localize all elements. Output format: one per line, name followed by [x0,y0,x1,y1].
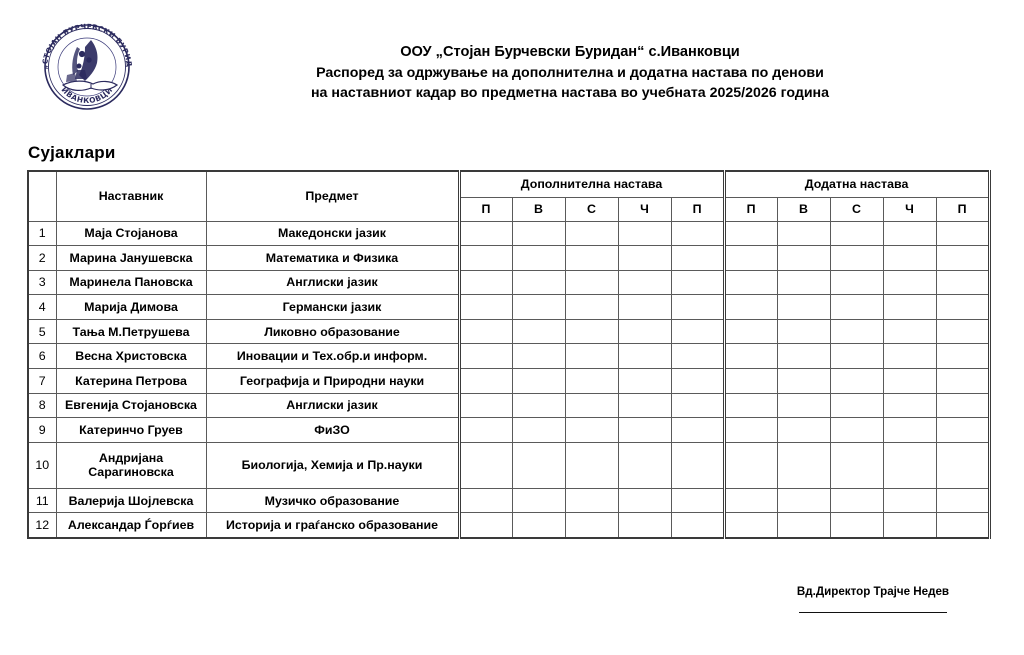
teacher-name: Валерија Шојлевска [56,488,206,513]
table-row: 10Андријана СарагиновскаБиологија, Хемиј… [28,442,989,488]
teacher-name: Катерина Петрова [56,369,206,394]
additional-empty-cell[interactable] [936,393,989,418]
row-number: 3 [28,270,56,295]
additional-mark-cell[interactable] [883,270,936,295]
title-line-subject: Распоред за одржување на дополнителна и … [250,63,890,84]
row-number: 9 [28,418,56,443]
supplementary-empty-cell[interactable] [565,221,618,246]
additional-empty-cell[interactable] [724,221,777,246]
supplementary-mark-cell[interactable] [671,442,724,488]
supplementary-empty-cell[interactable] [671,319,724,344]
supplementary-mark-cell[interactable] [565,246,618,271]
col-header-teacher: Наставник [56,171,206,221]
supplementary-empty-cell[interactable] [618,513,671,538]
col-header-number [28,171,56,221]
section-heading: Сујаклари [28,143,116,163]
teacher-name: Весна Христовска [56,344,206,369]
additional-empty-cell[interactable] [724,393,777,418]
supplementary-mark-cell[interactable] [512,270,565,295]
additional-empty-cell[interactable] [830,221,883,246]
table-header-row-groups: Наставник Предмет Дополнителна настава Д… [28,171,989,197]
additional-empty-cell[interactable] [936,270,989,295]
additional-empty-cell[interactable] [883,246,936,271]
supplementary-empty-cell[interactable] [459,221,512,246]
supplementary-empty-cell[interactable] [459,393,512,418]
signature-line [799,612,947,613]
additional-empty-cell[interactable] [777,270,830,295]
row-number: 2 [28,246,56,271]
supplementary-empty-cell[interactable] [459,246,512,271]
supplementary-empty-cell[interactable] [618,488,671,513]
additional-empty-cell[interactable] [830,295,883,320]
teacher-name: Марина Јанушевска [56,246,206,271]
supplementary-empty-cell[interactable] [618,393,671,418]
supplementary-empty-cell[interactable] [671,246,724,271]
supplementary-empty-cell[interactable] [671,393,724,418]
supplementary-empty-cell[interactable] [565,513,618,538]
additional-empty-cell[interactable] [830,393,883,418]
supplementary-empty-cell[interactable] [671,270,724,295]
additional-empty-cell[interactable] [777,442,830,488]
supplementary-mark-cell[interactable] [671,295,724,320]
additional-empty-cell[interactable] [724,369,777,394]
supplementary-empty-cell[interactable] [459,319,512,344]
supplementary-mark-cell[interactable] [618,369,671,394]
row-number: 11 [28,488,56,513]
table-row: 9Катеринчо ГруевФиЗО [28,418,989,443]
supplementary-mark-cell[interactable] [512,344,565,369]
additional-empty-cell[interactable] [936,319,989,344]
group-header-supplementary: Дополнителна настава [459,171,724,197]
additional-empty-cell[interactable] [936,246,989,271]
teacher-name: Евгенија Стојановска [56,393,206,418]
row-number: 12 [28,513,56,538]
supplementary-empty-cell[interactable] [565,369,618,394]
additional-empty-cell[interactable] [724,513,777,538]
supplementary-mark-cell[interactable] [459,513,512,538]
additional-empty-cell[interactable] [830,270,883,295]
subject-name: Музичко образование [206,488,459,513]
supplementary-empty-cell[interactable] [618,418,671,443]
supplementary-mark-cell[interactable] [671,488,724,513]
supplementary-empty-cell[interactable] [618,295,671,320]
day-header-supp-3: Ч [618,197,671,221]
supplementary-empty-cell[interactable] [671,344,724,369]
supplementary-empty-cell[interactable] [512,369,565,394]
additional-mark-cell[interactable] [777,246,830,271]
teacher-name: Марија Димова [56,295,206,320]
table-row: 5Тања М.ПетрушеваЛиковно образование [28,319,989,344]
supplementary-empty-cell[interactable] [671,513,724,538]
additional-empty-cell[interactable] [936,369,989,394]
supplementary-mark-cell[interactable] [459,418,512,443]
additional-mark-cell[interactable] [936,221,989,246]
additional-mark-cell[interactable] [883,344,936,369]
supplementary-empty-cell[interactable] [512,319,565,344]
document-page: ОУ „СТОЈАН БУРЧЕВСКИ БУРИДАН“ ИВАНКОВЦИ … [0,0,1024,655]
signature-block: Вд.Директор Трајче Недев [758,585,988,613]
group-header-additional: Додатна настава [724,171,989,197]
supplementary-empty-cell[interactable] [512,246,565,271]
additional-empty-cell[interactable] [830,246,883,271]
supplementary-empty-cell[interactable] [565,418,618,443]
table-row: 3Маринела ПановскаАнглиски јазик [28,270,989,295]
additional-mark-cell[interactable] [830,513,883,538]
additional-empty-cell[interactable] [777,295,830,320]
additional-empty-cell[interactable] [883,221,936,246]
table-body: 1Маја СтојановаМакедонски јазик2Марина Ј… [28,221,989,538]
supplementary-empty-cell[interactable] [565,295,618,320]
subject-name: Биологија, Хемија и Пр.науки [206,442,459,488]
table-row: 7Катерина ПетроваГеографија и Природни н… [28,369,989,394]
additional-empty-cell[interactable] [724,488,777,513]
additional-empty-cell[interactable] [883,513,936,538]
additional-empty-cell[interactable] [830,488,883,513]
supplementary-empty-cell[interactable] [459,270,512,295]
additional-empty-cell[interactable] [724,246,777,271]
table-row: 4Марија ДимоваГермански јазик [28,295,989,320]
col-header-subject: Предмет [206,171,459,221]
additional-mark-cell[interactable] [883,319,936,344]
row-number: 5 [28,319,56,344]
subject-name: Математика и Физика [206,246,459,271]
row-number: 7 [28,369,56,394]
supplementary-empty-cell[interactable] [512,418,565,443]
subject-name: ФиЗО [206,418,459,443]
title-line-school: ООУ „Стојан Бурчевски Буридан“ с.Иванков… [250,42,890,63]
supplementary-empty-cell[interactable] [512,295,565,320]
signature-name: Вд.Директор Трајче Недев [758,585,988,598]
supplementary-mark-cell[interactable] [565,393,618,418]
supplementary-empty-cell[interactable] [618,221,671,246]
supplementary-empty-cell[interactable] [459,295,512,320]
additional-empty-cell[interactable] [777,488,830,513]
row-number: 4 [28,295,56,320]
row-number: 1 [28,221,56,246]
supplementary-empty-cell[interactable] [618,270,671,295]
additional-empty-cell[interactable] [777,319,830,344]
document-title: ООУ „Стојан Бурчевски Буридан“ с.Иванков… [250,42,890,104]
additional-empty-cell[interactable] [936,442,989,488]
table-row: 11Валерија ШојлевскаМузичко образование [28,488,989,513]
day-header-supp-4: П [671,197,724,221]
additional-empty-cell[interactable] [724,319,777,344]
supplementary-empty-cell[interactable] [618,246,671,271]
subject-name: Англиски јазик [206,393,459,418]
supplementary-empty-cell[interactable] [512,513,565,538]
additional-empty-cell[interactable] [777,393,830,418]
additional-mark-cell[interactable] [883,393,936,418]
day-header-add-0: П [724,197,777,221]
table-head: Наставник Предмет Дополнителна настава Д… [28,171,989,221]
school-emblem-logo: ОУ „СТОЈАН БУРЧЕВСКИ БУРИДАН“ ИВАНКОВЦИ [33,13,141,121]
row-number: 10 [28,442,56,488]
teacher-name: Александар Ѓорѓиев [56,513,206,538]
additional-mark-cell[interactable] [724,442,777,488]
teacher-name: Маринела Пановска [56,270,206,295]
supplementary-empty-cell[interactable] [459,344,512,369]
subject-name: Македонски јазик [206,221,459,246]
additional-mark-cell[interactable] [936,488,989,513]
additional-mark-cell[interactable] [724,295,777,320]
supplementary-empty-cell[interactable] [565,319,618,344]
table-row: 8Евгенија СтојановскаАнглиски јазик [28,393,989,418]
table-row: 2Марина ЈанушевскаМатематика и Физика [28,246,989,271]
subject-name: Германски јазик [206,295,459,320]
teacher-name: Маја Стојанова [56,221,206,246]
supplementary-mark-cell[interactable] [618,319,671,344]
supplementary-empty-cell[interactable] [565,442,618,488]
supplementary-empty-cell[interactable] [512,442,565,488]
day-header-supp-0: П [459,197,512,221]
additional-empty-cell[interactable] [830,319,883,344]
day-header-add-4: П [936,197,989,221]
additional-empty-cell[interactable] [830,344,883,369]
additional-empty-cell[interactable] [883,418,936,443]
supplementary-empty-cell[interactable] [512,488,565,513]
row-number: 8 [28,393,56,418]
teacher-name: Андријана Сарагиновска [56,442,206,488]
day-header-supp-1: В [512,197,565,221]
additional-empty-cell[interactable] [724,418,777,443]
day-header-add-3: Ч [883,197,936,221]
additional-empty-cell[interactable] [883,488,936,513]
supplementary-empty-cell[interactable] [459,488,512,513]
svg-text:ОУ „СТОЈАН БУРЧЕВСКИ БУРИДАН“: ОУ „СТОЈАН БУРЧЕВСКИ БУРИДАН“ [33,13,134,70]
table-row: 1Маја СтојановаМакедонски јазик [28,221,989,246]
supplementary-empty-cell[interactable] [565,488,618,513]
day-header-add-1: В [777,197,830,221]
additional-empty-cell[interactable] [883,369,936,394]
supplementary-empty-cell[interactable] [459,369,512,394]
subject-name: Иновации и Тех.обр.и информ. [206,344,459,369]
subject-name: Ликовно образование [206,319,459,344]
additional-empty-cell[interactable] [883,442,936,488]
additional-mark-cell[interactable] [830,418,883,443]
schedule-table: Наставник Предмет Дополнителна настава Д… [27,170,991,539]
day-header-add-2: С [830,197,883,221]
supplementary-mark-cell[interactable] [512,221,565,246]
additional-empty-cell[interactable] [777,513,830,538]
supplementary-empty-cell[interactable] [618,442,671,488]
additional-empty-cell[interactable] [936,344,989,369]
additional-empty-cell[interactable] [936,295,989,320]
additional-empty-cell[interactable] [724,270,777,295]
supplementary-empty-cell[interactable] [512,393,565,418]
teacher-name: Катеринчо Груев [56,418,206,443]
additional-empty-cell[interactable] [936,418,989,443]
additional-empty-cell[interactable] [830,369,883,394]
additional-empty-cell[interactable] [777,344,830,369]
supplementary-empty-cell[interactable] [671,369,724,394]
subject-name: Географија и Природни науки [206,369,459,394]
additional-empty-cell[interactable] [830,442,883,488]
additional-empty-cell[interactable] [777,221,830,246]
additional-empty-cell[interactable] [936,513,989,538]
additional-empty-cell[interactable] [724,344,777,369]
supplementary-empty-cell[interactable] [565,270,618,295]
table-row: 6Весна ХристовскаИновации и Тех.обр.и ин… [28,344,989,369]
supplementary-empty-cell[interactable] [459,442,512,488]
supplementary-empty-cell[interactable] [671,418,724,443]
additional-empty-cell[interactable] [883,295,936,320]
additional-mark-cell[interactable] [777,369,830,394]
supplementary-empty-cell[interactable] [671,221,724,246]
additional-empty-cell[interactable] [777,418,830,443]
title-line-year: на наставниот кадар во предметна настава… [250,83,890,104]
subject-name: Англиски јазик [206,270,459,295]
day-header-supp-2: С [565,197,618,221]
supplementary-empty-cell[interactable] [618,344,671,369]
table-row: 12Александар ЃорѓиевИсторија и граѓанско… [28,513,989,538]
row-number: 6 [28,344,56,369]
teacher-name: Тања М.Петрушева [56,319,206,344]
supplementary-empty-cell[interactable] [565,344,618,369]
subject-name: Историја и граѓанско образование [206,513,459,538]
schedule-table-wrapper: Наставник Предмет Дополнителна настава Д… [27,170,988,539]
